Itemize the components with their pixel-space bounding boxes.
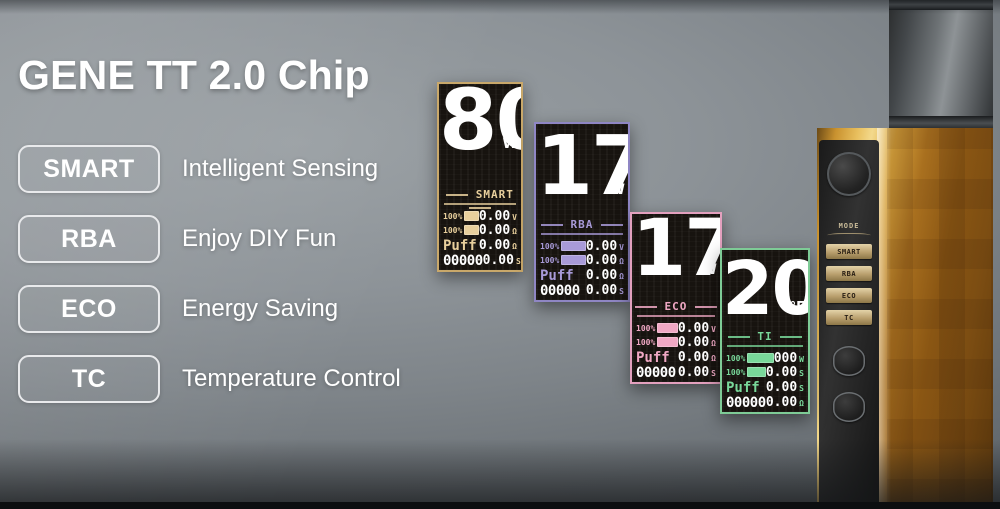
marketing-banner: GENE TT 2.0 Chip SMART Intelligent Sensi… xyxy=(0,0,1000,509)
battery-2-pct: 100% xyxy=(540,256,559,265)
readout-1-unit: V xyxy=(619,243,624,252)
readout-3-unit: S xyxy=(516,257,521,266)
puff-label: Puff xyxy=(443,238,477,254)
fire-button[interactable] xyxy=(827,152,871,196)
mode-divider xyxy=(827,233,871,239)
battery-1-bar xyxy=(747,353,773,363)
readout-1-value: 000 xyxy=(774,351,797,366)
readout-3-value: 0.00 xyxy=(483,253,514,268)
power-unit: °F xyxy=(790,300,805,315)
battery-1-pct: 100% xyxy=(636,324,655,333)
feature-desc-eco: Energy Saving xyxy=(182,295,338,323)
readout-2b-value: 0.00 xyxy=(766,380,797,395)
readout-1-value: 0.00 xyxy=(479,209,510,224)
feature-desc-smart: Intelligent Sensing xyxy=(182,155,378,183)
mode-button-tc[interactable]: TC xyxy=(826,310,872,325)
puff-count: 00000 xyxy=(540,283,580,299)
tank-glass xyxy=(889,0,993,132)
battery-1-pct: 100% xyxy=(540,242,559,251)
feature-row: SMART Intelligent Sensing xyxy=(18,146,401,192)
readout-2-unit: Ω xyxy=(512,227,517,236)
battery-2-bar xyxy=(464,225,479,235)
feature-list: SMART Intelligent Sensing RBA Enjoy DIY … xyxy=(18,146,401,426)
feature-desc-rba: Enjoy DIY Fun xyxy=(182,225,336,253)
control-panel: MODE SMART RBA ECO TC xyxy=(819,140,879,509)
battery-2-pct: 100% xyxy=(443,226,462,235)
readout-2b-unit: Ω xyxy=(512,242,517,251)
battery-1-bar xyxy=(657,323,678,333)
readout-2-value: 0.00 xyxy=(766,365,797,380)
readout-3-value: 0.00 xyxy=(678,365,709,380)
device-screen-rba: 177W RBA 100%0.00V100%0.00ΩPuff0.00Ω0000… xyxy=(534,122,630,302)
readout-1-unit: W xyxy=(799,355,804,364)
battery-1-bar xyxy=(464,211,479,221)
readout-2-value: 0.00 xyxy=(586,253,617,268)
up-button[interactable] xyxy=(833,346,865,376)
readout-3-unit: S xyxy=(619,287,624,296)
feature-chip-smart: SMART xyxy=(18,145,160,193)
readout-2-unit: S xyxy=(799,369,804,378)
readout-3-value: 0.00 xyxy=(586,283,617,298)
power-unit: W xyxy=(702,262,717,278)
down-button[interactable] xyxy=(833,392,865,422)
device-screen-smart: 80W SMART 100%0.00V100%0.00ΩPuff0.00Ω000… xyxy=(437,82,523,272)
mode-label: MODE xyxy=(819,222,879,230)
feature-chip-rba: RBA xyxy=(18,215,160,263)
battery-2-bar xyxy=(657,337,678,347)
battery-2-pct: 100% xyxy=(636,338,655,347)
puff-label: Puff xyxy=(636,350,670,366)
readout-grid: 100%000W100%0.00SPuff0.00S000000.00Ω xyxy=(726,352,804,410)
readout-2b-unit: Ω xyxy=(619,272,624,281)
device-screen-eco: 177W ECO 100%0.00V100%0.00ΩPuff0.00Ω0000… xyxy=(630,212,722,384)
mode-button-eco[interactable]: ECO xyxy=(826,288,872,303)
mode-button-rba[interactable]: RBA xyxy=(826,266,872,281)
feature-chip-eco: ECO xyxy=(18,285,160,333)
battery-2-bar xyxy=(747,367,766,377)
feature-row: RBA Enjoy DIY Fun xyxy=(18,216,401,262)
readout-2b-value: 0.00 xyxy=(586,268,617,283)
readout-1-unit: V xyxy=(512,213,517,222)
feature-chip-tc: TC xyxy=(18,355,160,403)
device-screen-ti: 200°F TI 100%000W100%0.00SPuff0.00S00000… xyxy=(720,248,810,414)
battery-2-pct: 100% xyxy=(726,368,745,377)
feature-desc-tc: Temperature Control xyxy=(182,365,401,393)
puff-count: 00000 xyxy=(443,253,483,269)
puff-label: Puff xyxy=(540,268,574,284)
readout-grid: 100%0.00V100%0.00ΩPuff0.00Ω000000.00S xyxy=(540,240,624,298)
battery-1-pct: 100% xyxy=(726,354,745,363)
battery-1-pct: 100% xyxy=(443,212,462,221)
power-unit: W xyxy=(503,136,518,152)
readout-grid: 100%0.00V100%0.00ΩPuff0.00Ω000000.00S xyxy=(636,322,716,380)
readout-2b-unit: Ω xyxy=(711,354,716,363)
readout-1-value: 0.00 xyxy=(586,239,617,254)
feature-row: ECO Energy Saving xyxy=(18,286,401,332)
readout-2b-value: 0.00 xyxy=(678,350,709,365)
readout-2b-value: 0.00 xyxy=(479,238,510,253)
readout-3-unit: Ω xyxy=(799,399,804,408)
mode-indicator: RBA xyxy=(536,218,628,231)
device-mod: MODE SMART RBA ECO TC xyxy=(793,0,1000,509)
puff-count: 00000 xyxy=(726,395,766,411)
readout-grid: 100%0.00V100%0.00ΩPuff0.00Ω000000.00S xyxy=(443,210,517,268)
readout-3-unit: S xyxy=(711,369,716,378)
feature-row: TC Temperature Control xyxy=(18,356,401,402)
readout-2-value: 0.00 xyxy=(479,223,510,238)
readout-2-unit: Ω xyxy=(711,339,716,348)
readout-1-unit: V xyxy=(711,325,716,334)
readout-1-value: 0.00 xyxy=(678,321,709,336)
readout-2-unit: Ω xyxy=(619,257,624,266)
puff-label: Puff xyxy=(726,380,760,396)
readout-3-value: 0.00 xyxy=(766,395,797,410)
mode-indicator: ECO xyxy=(632,300,720,313)
mode-button-smart[interactable]: SMART xyxy=(826,244,872,259)
page-title: GENE TT 2.0 Chip xyxy=(18,52,370,99)
power-unit: W xyxy=(610,182,625,198)
readout-2b-unit: S xyxy=(799,384,804,393)
battery-1-bar xyxy=(561,241,586,251)
puff-count: 00000 xyxy=(636,365,676,381)
readout-2-value: 0.00 xyxy=(678,335,709,350)
mode-indicator: TI xyxy=(722,330,808,343)
battery-2-bar xyxy=(561,255,586,265)
